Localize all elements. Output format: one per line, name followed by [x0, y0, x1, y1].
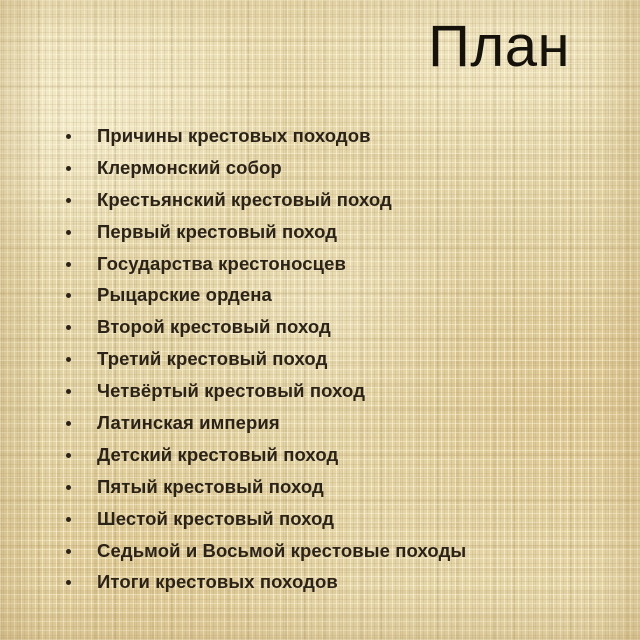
- bullet-dot-icon: [66, 580, 71, 585]
- bullet-dot-icon: [66, 549, 71, 554]
- bullet-dot-icon: [66, 421, 71, 426]
- plan-list-item-label: Итоги крестовых походов: [97, 571, 338, 592]
- bullet-dot-icon: [66, 230, 71, 235]
- plan-list-item-label: Шестой крестовый поход: [97, 508, 334, 529]
- plan-list-item-label: Третий крестовый поход: [97, 348, 327, 369]
- bullet-dot-icon: [66, 293, 71, 298]
- plan-list-item[interactable]: Латинская империя: [60, 407, 626, 439]
- plan-list-item[interactable]: Рыцарские ордена: [60, 279, 626, 311]
- bullet-dot-icon: [66, 485, 71, 490]
- plan-list-item[interactable]: Клермонский собор: [60, 152, 626, 184]
- plan-list-item[interactable]: Государства крестоносцев: [60, 248, 626, 280]
- plan-list-item[interactable]: Шестой крестовый поход: [60, 503, 626, 535]
- plan-list-item[interactable]: Детский крестовый поход: [60, 439, 626, 471]
- plan-list-item-label: Пятый крестовый поход: [97, 476, 324, 497]
- plan-list-item-label: Латинская империя: [97, 412, 280, 433]
- plan-list-item-label: Причины крестовых походов: [97, 125, 371, 146]
- plan-list-item-label: Рыцарские ордена: [97, 284, 272, 305]
- bullet-dot-icon: [66, 453, 71, 458]
- bullet-dot-icon: [66, 389, 71, 394]
- plan-list-item[interactable]: Первый крестовый поход: [60, 216, 626, 248]
- plan-list-item-label: Первый крестовый поход: [97, 221, 337, 242]
- plan-list-item[interactable]: Итоги крестовых походов: [60, 566, 626, 598]
- bullet-dot-icon: [66, 517, 71, 522]
- bullet-dot-icon: [66, 198, 71, 203]
- slide-title: План: [0, 16, 570, 79]
- bullet-dot-icon: [66, 166, 71, 171]
- plan-list-item-label: Клермонский собор: [97, 157, 282, 178]
- plan-list-item-label: Второй крестовый поход: [97, 316, 331, 337]
- bullet-dot-icon: [66, 325, 71, 330]
- bullet-dot-icon: [66, 262, 71, 267]
- plan-list-item-label: Государства крестоносцев: [97, 253, 346, 274]
- plan-list-item[interactable]: Четвёртый крестовый поход: [60, 375, 626, 407]
- plan-list-item[interactable]: Причины крестовых походов: [60, 120, 626, 152]
- plan-list-item-label: Четвёртый крестовый поход: [97, 380, 365, 401]
- plan-list-item-label: Детский крестовый поход: [97, 444, 338, 465]
- bullet-dot-icon: [66, 357, 71, 362]
- plan-list-item[interactable]: Крестьянский крестовый поход: [60, 184, 626, 216]
- plan-list-item-label: Седьмой и Восьмой крестовые походы: [97, 540, 466, 561]
- plan-list-item[interactable]: Третий крестовый поход: [60, 343, 626, 375]
- plan-bullet-list: Причины крестовых походовКлермонский соб…: [60, 120, 626, 598]
- presentation-slide: План Причины крестовых походовКлермонски…: [0, 0, 640, 640]
- plan-list-item[interactable]: Второй крестовый поход: [60, 311, 626, 343]
- plan-list-item[interactable]: Пятый крестовый поход: [60, 471, 626, 503]
- bullet-dot-icon: [66, 134, 71, 139]
- plan-list-item[interactable]: Седьмой и Восьмой крестовые походы: [60, 535, 626, 567]
- plan-list-item-label: Крестьянский крестовый поход: [97, 189, 392, 210]
